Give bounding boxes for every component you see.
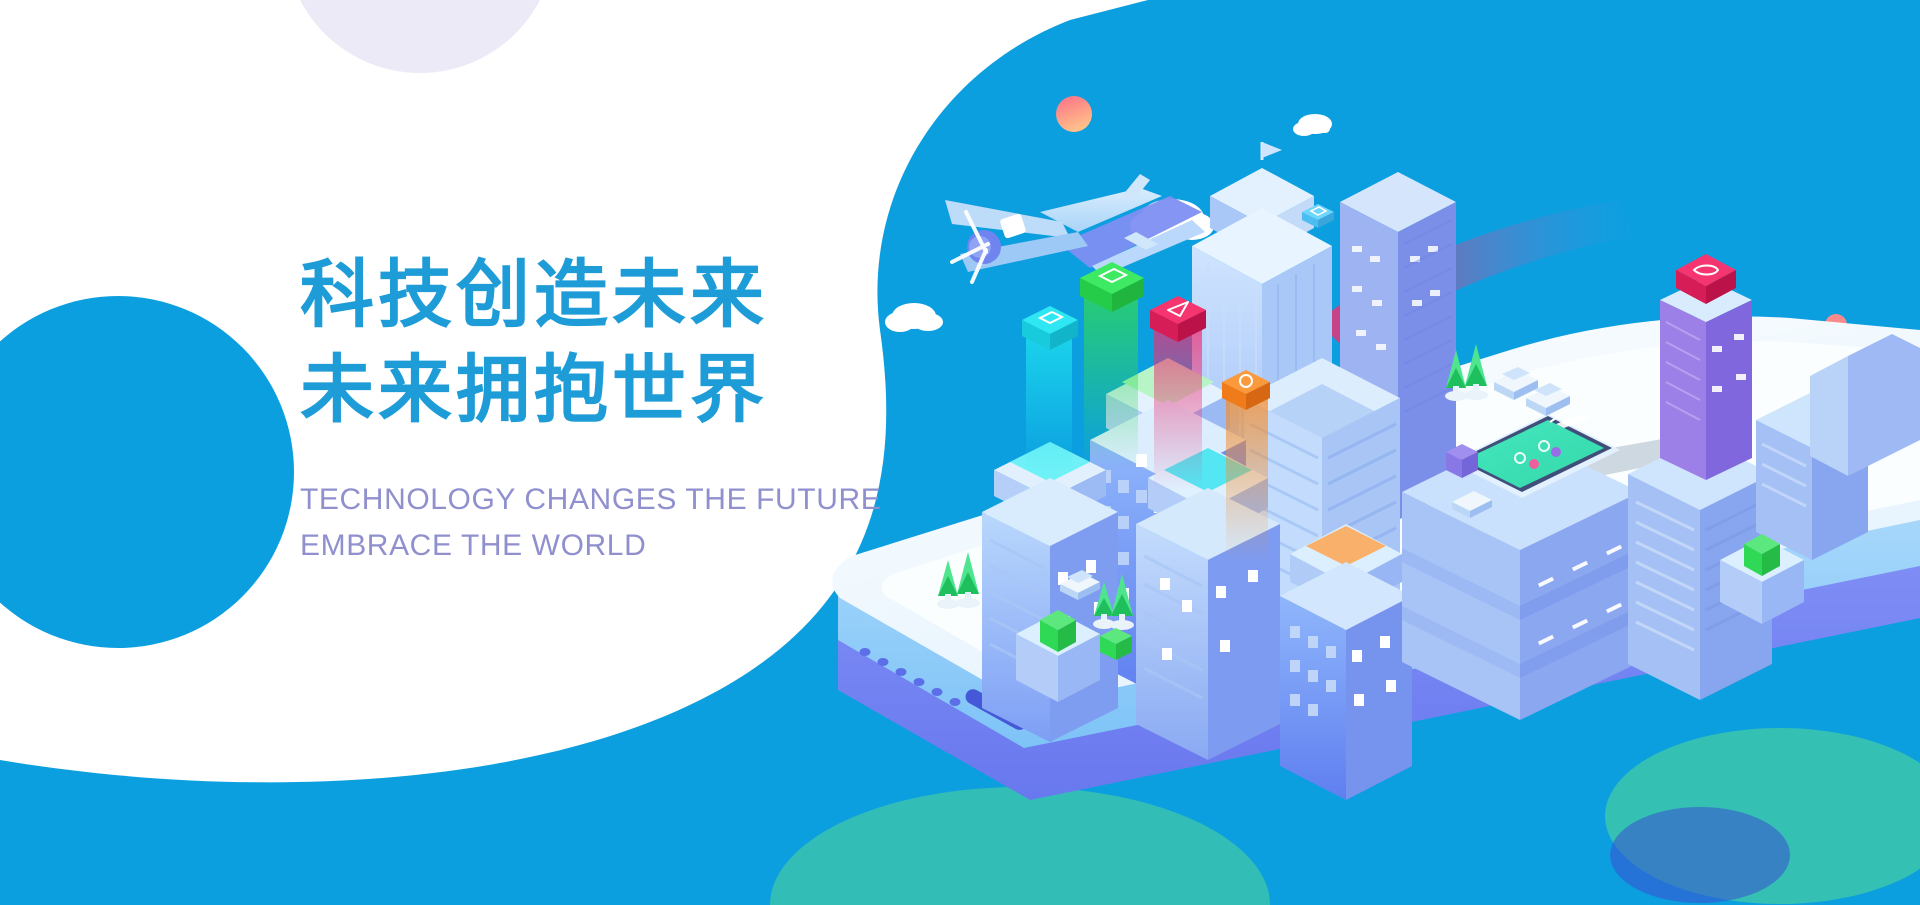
tower-orange-cap [1280,524,1412,800]
subtitle-line-1: TECHNOLOGY CHANGES THE FUTURE [300,477,920,523]
headline-line-2: 未来拥抱世界 [300,343,920,438]
illustration-canvas [0,0,1920,905]
page-title: 科技创造未来 未来拥抱世界 [300,248,920,437]
headline-line-1: 科技创造未来 [300,253,768,336]
hero-banner: 科技创造未来 未来拥抱世界 TECHNOLOGY CHANGES THE FUT… [0,0,1920,905]
balloon [1056,96,1092,132]
bottom-right-indigo-ellipse [1610,807,1790,903]
subtitle-line-2: EMBRACE THE WORLD [300,523,920,569]
tower-pink-cap-right [1660,278,1752,480]
hero-subtitle: TECHNOLOGY CHANGES THE FUTURE EMBRACE TH… [300,477,920,568]
hero-copy: 科技创造未来 未来拥抱世界 TECHNOLOGY CHANGES THE FUT… [300,248,920,569]
